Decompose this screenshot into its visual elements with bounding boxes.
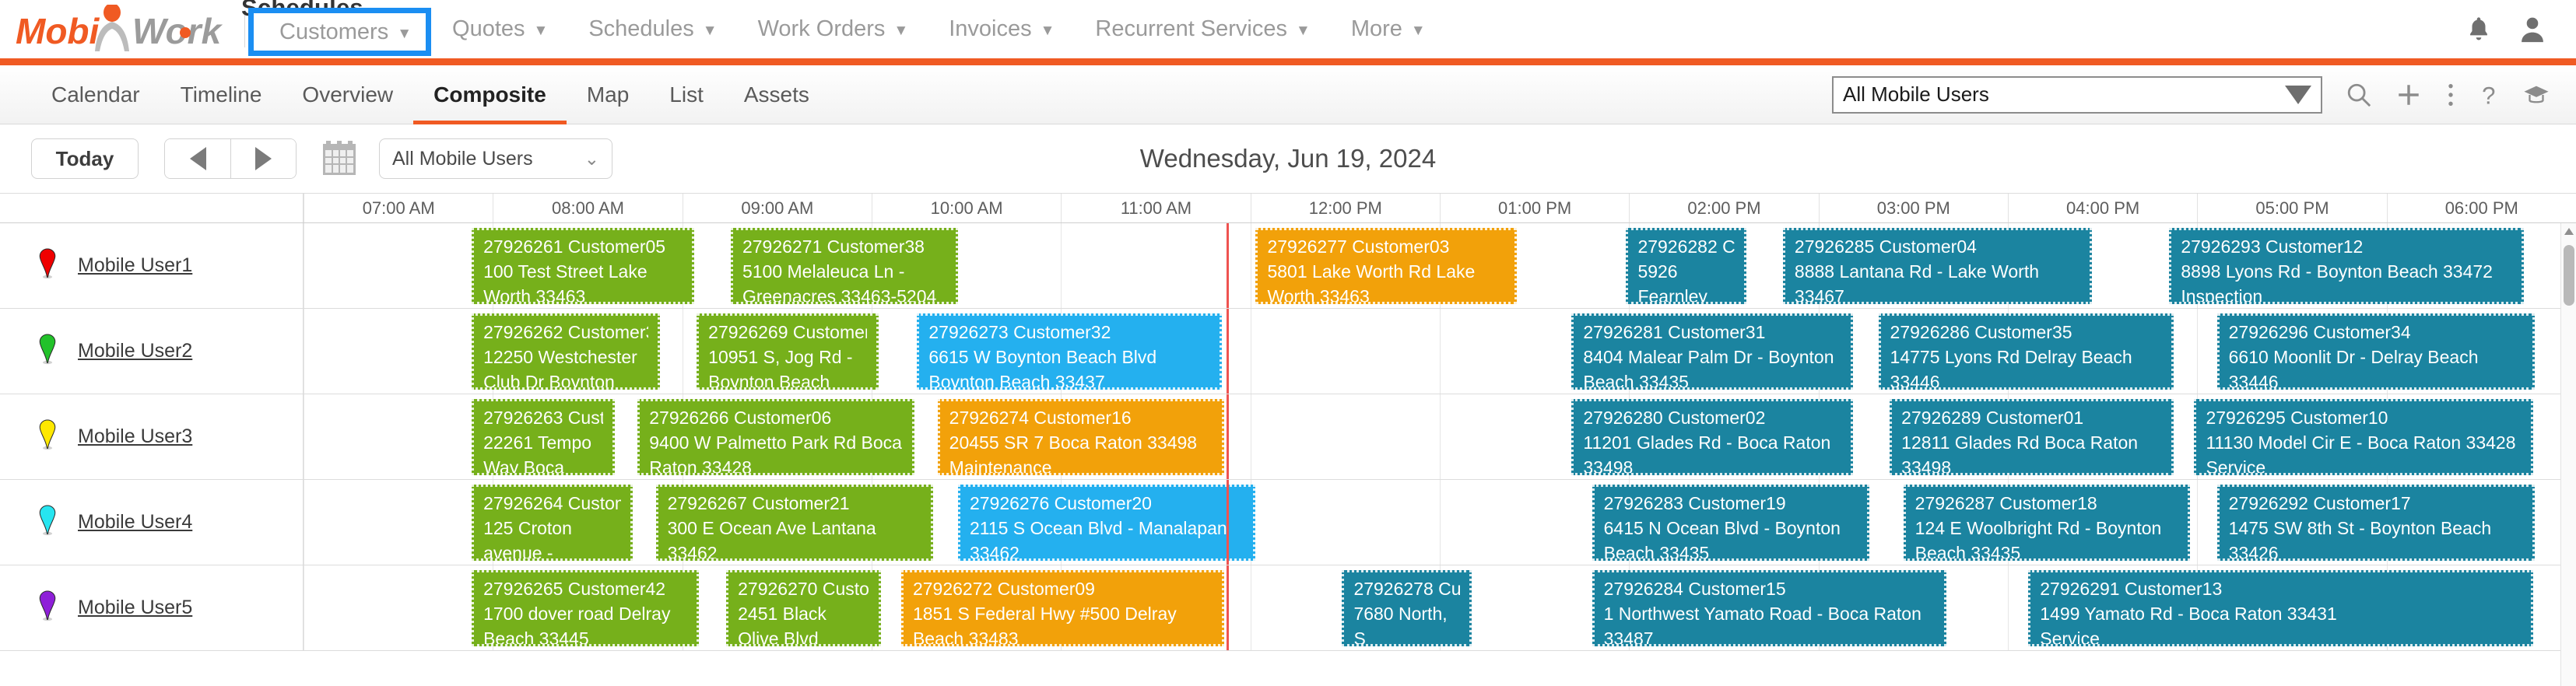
event-id-customer: 27926276 Customer20	[970, 491, 1244, 516]
schedule-event-card[interactable]: 27926273 Customer326615 W Boynton Beach …	[917, 313, 1221, 390]
mobile-user-link[interactable]: Mobile User5	[78, 597, 192, 619]
mobile-user-link[interactable]: Mobile User4	[78, 511, 192, 534]
event-id-customer: 27926295 Customer10	[2206, 405, 2521, 430]
date-nav-group	[164, 138, 297, 179]
mobile-user-select-value: All Mobile Users	[392, 148, 584, 170]
schedule-lane[interactable]: 27926265 Customer421700 dover road Delra…	[304, 565, 2576, 650]
schedule-row: Mobile User427926264 Customer41125 Croto…	[0, 480, 2576, 565]
event-type: Inspection	[2181, 284, 2512, 304]
event-address: 9400 W Palmetto Park Rd Boca Raton 33428	[649, 432, 902, 475]
event-address: 125 Croton avenue - Lantana 33462	[483, 518, 603, 561]
top-bar: Mobi Work Schedules Customers ▼ Quotes ▼…	[0, 0, 2576, 58]
grid-line	[1251, 565, 1251, 650]
schedule-event-card[interactable]: 27926269 Customer3910951 S, Jog Rd - Boy…	[697, 313, 879, 390]
map-pin-icon	[37, 334, 58, 369]
event-id-customer: 27926293 Customer12	[2181, 234, 2512, 259]
mobile-user-row-label: Mobile User5	[0, 565, 304, 650]
sub-navigation: Calendar Timeline Overview Composite Map…	[0, 65, 2576, 124]
event-id-customer: 27926262 Customer33	[483, 320, 648, 345]
chevron-down-icon: ▼	[1296, 23, 1311, 38]
schedule-event-card[interactable]: 27926266 Customer069400 W Palmetto Park …	[637, 399, 914, 475]
map-pin-icon	[37, 505, 58, 540]
event-id-customer: 27926271 Customer38	[742, 234, 946, 259]
grid-line	[2197, 309, 2198, 394]
calendar-icon[interactable]	[321, 139, 357, 178]
event-id-customer: 27926289 Customer01	[1901, 405, 2162, 430]
sub-nav-actions: All Mobile Users ?	[1832, 76, 2576, 114]
svg-text:Mobi: Mobi	[16, 11, 100, 51]
grid-line	[1251, 309, 1251, 394]
current-time-marker	[1227, 394, 1229, 479]
nav-item-customers[interactable]: Customers ▼	[259, 8, 432, 56]
event-type: Service	[2040, 626, 2521, 646]
nav-item-quotes[interactable]: Quotes ▼	[432, 0, 568, 58]
event-id-customer: 27926266 Customer06	[649, 405, 903, 430]
arrow-left-icon	[190, 147, 206, 170]
grid-line	[304, 309, 304, 394]
current-time-marker	[1227, 565, 1229, 650]
time-slot-header: 10:00 AM	[872, 194, 1061, 222]
schedule-row: Mobile User527926265 Customer421700 dove…	[0, 565, 2576, 651]
chevron-down-icon	[2285, 86, 2311, 104]
svg-text:?: ?	[2482, 82, 2495, 108]
event-type: Service	[2206, 455, 2521, 475]
event-address: 22261 Tempo Way Boca	[483, 432, 591, 475]
schedule-event-card[interactable]: 27926264 Customer41125 Croton avenue - L…	[472, 485, 633, 561]
chevron-down-icon: ▼	[1041, 23, 1055, 38]
event-address: 1851 S Federal Hwy #500 Delray Beach 334…	[913, 604, 1177, 646]
schedule-event-card[interactable]: 27926281 Customer318404 Malear Palm Dr -…	[1571, 313, 1853, 390]
event-id-customer: 27926277 Customer03	[1267, 234, 1505, 259]
event-address: 12811 Glades Rd Boca Raton 33498	[1901, 432, 2138, 475]
time-axis-header: 07:00 AM08:00 AM09:00 AM10:00 AM11:00 AM…	[0, 193, 2576, 223]
graduation-cap-icon[interactable]	[2523, 82, 2550, 108]
schedule-event-card[interactable]: 27926267 Customer21300 E Ocean Ave Lanta…	[656, 485, 933, 561]
event-id-customer: 27926269 Customer39	[708, 320, 867, 345]
vertical-scrollbar[interactable]	[2560, 223, 2576, 686]
event-id-customer: 27926292 Customer17	[2229, 491, 2524, 516]
schedule-lane[interactable]: 27926261 Customer05100 Test Street Lake …	[304, 223, 2576, 308]
kebab-menu-icon[interactable]	[2445, 82, 2456, 108]
nav-item-more-label: More	[1351, 16, 1402, 42]
schedule-lane[interactable]: 27926264 Customer41125 Croton avenue - L…	[304, 480, 2576, 565]
event-address: 1 Northwest Yamato Road - Boca Raton 334…	[1604, 604, 1921, 646]
map-pin-icon	[37, 590, 58, 621]
event-id-customer: 27926282 Customer11	[1637, 234, 1735, 259]
grid-line	[1440, 394, 1441, 479]
grid-line	[1251, 394, 1251, 479]
tab-list[interactable]: List	[649, 65, 724, 124]
schedule-event-card[interactable]: 27926291 Customer131499 Yamato Rd - Boca…	[2028, 570, 2532, 646]
event-id-customer: 27926274 Customer16	[949, 405, 1213, 430]
event-address: 12250 Westchester Club Dr Boynton	[483, 347, 637, 390]
time-slot-header: 03:00 PM	[1819, 194, 2008, 222]
time-slot-header: 05:00 PM	[2197, 194, 2386, 222]
top-bar-actions	[2465, 15, 2576, 44]
event-address: 5801 Lake Worth Rd Lake Worth 33463	[1267, 261, 1475, 304]
scroll-up-arrow-icon[interactable]	[2564, 228, 2574, 235]
tab-overview[interactable]: Overview	[282, 65, 413, 124]
event-address: 8888 Lantana Rd - Lake Worth 33467	[1795, 261, 2039, 304]
event-address: 5926 Fearnley Rd - Lake Worth	[1637, 261, 1715, 304]
event-id-customer: 27926287 Customer18	[1915, 491, 2178, 516]
map-pin-icon	[37, 505, 58, 536]
grid-line	[683, 309, 683, 394]
plus-icon[interactable]	[2395, 82, 2422, 108]
event-address: 14775 Lyons Rd Delray Beach 33446	[1890, 347, 2132, 390]
bell-icon[interactable]	[2465, 15, 2492, 44]
main-navigation: Customers ▼ Quotes ▼ Schedules ▼ Work Or…	[259, 0, 1446, 58]
mobile-user-row-label: Mobile User2	[0, 309, 304, 394]
date-toolbar: Today All Mobile Users ⌄ Wednesday, Jun …	[0, 124, 2576, 193]
schedule-event-card[interactable]: 27926265 Customer421700 dover road Delra…	[472, 570, 699, 646]
time-slot-header: 07:00 AM	[304, 194, 493, 222]
time-axis-cells: 07:00 AM08:00 AM09:00 AM10:00 AM11:00 AM…	[304, 194, 2576, 222]
grid-line	[304, 223, 304, 308]
svg-text:Work: Work	[132, 11, 223, 51]
mobiwork-logo-icon: Mobi Work	[16, 5, 226, 54]
next-day-button[interactable]	[230, 139, 296, 178]
chevron-down-icon: ▼	[1411, 23, 1426, 38]
event-address: 2451 Black Olive Blvd	[738, 604, 826, 646]
current-time-marker	[1227, 223, 1229, 308]
event-address: 300 E Ocean Ave Lantana 33462	[668, 518, 876, 561]
scrollbar-thumb[interactable]	[2564, 245, 2574, 306]
tab-timeline[interactable]: Timeline	[160, 65, 283, 124]
event-id-customer: 27926281 Customer31	[1583, 320, 1841, 345]
schedule-event-card[interactable]: 27926276 Customer202115 S Ocean Blvd - M…	[958, 485, 1256, 561]
nav-highlight-wrapper: Customers ▼	[259, 2, 432, 56]
time-slot-header: 12:00 PM	[1251, 194, 1440, 222]
nav-item-work-orders-label: Work Orders	[758, 16, 886, 42]
grid-line	[1440, 480, 1441, 565]
schedule-event-card[interactable]: 27926296 Customer346610 Moonlit Dr - Del…	[2217, 313, 2536, 390]
time-slot-header: 11:00 AM	[1061, 194, 1250, 222]
grid-line	[304, 565, 304, 650]
event-id-customer: 27926285 Customer04	[1795, 234, 2080, 259]
chevron-down-icon: ⌄	[584, 149, 599, 170]
mobile-user-row-label: Mobile User1	[0, 223, 304, 308]
mobile-user-link[interactable]: Mobile User1	[78, 254, 192, 277]
map-pin-icon	[37, 248, 58, 279]
mobile-user-row-label: Mobile User4	[0, 480, 304, 565]
event-id-customer: 27926286 Customer35	[1890, 320, 2163, 345]
event-address: 1475 SW 8th St - Boynton Beach 33426	[2229, 518, 2492, 561]
help-icon[interactable]: ?	[2479, 82, 2500, 108]
mobile-users-filter-value: All Mobile Users	[1843, 82, 2285, 107]
schedule-event-card[interactable]: 27926286 Customer3514775 Lyons Rd Delray…	[1879, 313, 2174, 390]
event-id-customer: 27926273 Customer32	[928, 320, 1209, 345]
search-icon[interactable]	[2346, 82, 2372, 108]
schedule-event-card[interactable]: 27926284 Customer151 Northwest Yamato Ro…	[1592, 570, 1947, 646]
event-id-customer: 27926265 Customer42	[483, 576, 687, 601]
nav-item-schedules-label: Schedules	[588, 16, 693, 42]
tab-calendar[interactable]: Calendar	[31, 65, 160, 124]
grid-line	[304, 394, 304, 479]
nav-item-schedules[interactable]: Schedules ▼	[568, 0, 737, 58]
nav-item-work-orders[interactable]: Work Orders ▼	[738, 0, 929, 58]
map-pin-icon	[37, 248, 58, 283]
event-address: 100 Test Street Lake Worth 33463	[483, 261, 648, 304]
grid-line	[1061, 223, 1062, 308]
arrow-right-icon	[255, 147, 272, 170]
tab-map[interactable]: Map	[567, 65, 649, 124]
schedule-event-card[interactable]: 27926282 Customer115926 Fearnley Rd - La…	[1626, 228, 1746, 304]
nav-item-recurrent-services[interactable]: Recurrent Services ▼	[1075, 0, 1330, 58]
map-pin-icon	[37, 419, 58, 454]
event-address: 5100 Melaleuca Ln - Greenacres 33463-520…	[742, 261, 936, 304]
schedule-event-card[interactable]: 27926292 Customer171475 SW 8th St - Boyn…	[2217, 485, 2536, 561]
current-time-marker	[1227, 480, 1229, 565]
time-slot-header: 08:00 AM	[493, 194, 682, 222]
chevron-down-icon: ▼	[397, 26, 412, 41]
tab-assets[interactable]: Assets	[724, 65, 830, 124]
schedule-row: Mobile User227926262 Customer3312250 Wes…	[0, 309, 2576, 394]
nav-item-recurrent-services-label: Recurrent Services	[1095, 16, 1287, 42]
mobile-user-link[interactable]: Mobile User3	[78, 425, 192, 448]
map-pin-icon	[37, 419, 58, 450]
event-address: 7680 North, S	[1353, 604, 1447, 646]
schedule-event-card[interactable]: 27926280 Customer0211201 Glades Rd - Boc…	[1571, 399, 1853, 475]
map-pin-icon	[37, 334, 58, 365]
schedule-event-card[interactable]: 27926263 Customer4022261 Tempo Way Boca	[472, 399, 615, 475]
schedule-lane[interactable]: 27926262 Customer3312250 Westchester Clu…	[304, 309, 2576, 394]
event-id-customer: 27926296 Customer34	[2229, 320, 2524, 345]
event-address: 6615 W Boynton Beach Blvd Boynton Beach …	[928, 347, 1156, 390]
nav-item-more[interactable]: More ▼	[1331, 0, 1446, 58]
chevron-down-icon: ▼	[893, 23, 908, 38]
chevron-down-icon: ▼	[534, 23, 549, 38]
event-address: 8404 Malear Palm Dr - Boynton Beach 3343…	[1583, 347, 1834, 390]
schedule-event-card[interactable]: 27926278 Customer077680 North, S	[1342, 570, 1471, 646]
schedule-event-card[interactable]: 27926289 Customer0112811 Glades Rd Boca …	[1890, 399, 2174, 475]
nav-item-customers-label: Customers	[279, 19, 388, 45]
mobile-user-row-label: Mobile User3	[0, 394, 304, 479]
schedule-event-card[interactable]: 27926272 Customer091851 S Federal Hwy #5…	[901, 570, 1224, 646]
time-axis-corner	[0, 194, 304, 222]
schedule-grid: 07:00 AM08:00 AM09:00 AM10:00 AM11:00 AM…	[0, 193, 2576, 686]
tab-composite[interactable]: Composite	[413, 65, 567, 124]
nav-item-invoices[interactable]: Invoices ▼	[928, 0, 1075, 58]
schedule-event-card[interactable]: 27926287 Customer18124 E Woolbright Rd -…	[1904, 485, 2190, 561]
mobile-user-select[interactable]: All Mobile Users ⌄	[379, 138, 612, 179]
current-time-marker	[1227, 309, 1229, 394]
event-id-customer: 27926272 Customer09	[913, 576, 1213, 601]
schedule-lane[interactable]: 27926263 Customer4022261 Tempo Way Boca2…	[304, 394, 2576, 479]
schedule-event-card[interactable]: 27926285 Customer048888 Lantana Rd - Lak…	[1783, 228, 2092, 304]
time-slot-header: 02:00 PM	[1629, 194, 1818, 222]
event-address: 10951 S, Jog Rd - Boynton Beach 33437	[708, 347, 852, 390]
event-id-customer: 27926263 Customer40	[483, 405, 603, 430]
schedule-row: Mobile User327926263 Customer4022261 Tem…	[0, 394, 2576, 480]
chevron-down-icon: ▼	[703, 23, 718, 38]
previous-day-button[interactable]	[165, 139, 230, 178]
event-id-customer: 27926284 Customer15	[1604, 576, 1936, 601]
event-address: 11130 Model Cir E - Boca Raton 33428	[2206, 432, 2515, 453]
event-address: 20455 SR 7 Boca Raton 33498	[949, 432, 1197, 453]
time-slot-header: 01:00 PM	[1440, 194, 1629, 222]
event-id-customer: 27926261 Customer05	[483, 234, 683, 259]
user-avatar-icon[interactable]	[2518, 15, 2546, 44]
schedule-event-card[interactable]: 27926295 Customer1011130 Model Cir E - B…	[2194, 399, 2532, 475]
time-slot-header: 06:00 PM	[2387, 194, 2576, 222]
time-slot-header: 09:00 AM	[683, 194, 872, 222]
app-logo[interactable]: Mobi Work	[16, 2, 241, 57]
event-id-customer: 27926291 Customer13	[2040, 576, 2521, 601]
schedule-event-card[interactable]: 27926262 Customer3312250 Westchester Clu…	[472, 313, 660, 390]
event-id-customer: 27926283 Customer19	[1604, 491, 1858, 516]
nav-item-invoices-label: Invoices	[949, 16, 1031, 42]
today-button[interactable]: Today	[31, 138, 139, 179]
map-pin-icon	[37, 590, 58, 625]
schedule-rows: Mobile User127926261 Customer05100 Test …	[0, 223, 2576, 651]
event-id-customer: 27926264 Customer41	[483, 491, 621, 516]
schedule-event-card[interactable]: 27926270 Customer082451 Black Olive Blvd	[726, 570, 881, 646]
time-slot-header: 04:00 PM	[2008, 194, 2197, 222]
schedule-row: Mobile User127926261 Customer05100 Test …	[0, 223, 2576, 309]
schedule-event-card[interactable]: 27926261 Customer05100 Test Street Lake …	[472, 228, 694, 304]
event-id-customer: 27926278 Customer07	[1353, 576, 1459, 601]
event-address: 1700 dover road Delray Beach 33445	[483, 604, 670, 646]
event-address: 6415 N Ocean Blvd - Boynton Beach 33435	[1604, 518, 1841, 561]
event-address: 2115 S Ocean Blvd - Manalapan 33462	[970, 518, 1227, 561]
event-id-customer: 27926280 Customer02	[1583, 405, 1841, 430]
event-address: 6610 Moonlit Dr - Delray Beach 33446	[2229, 347, 2479, 390]
grid-line	[2197, 480, 2198, 565]
event-address: 124 E Woolbright Rd - Boynton Beach 3343…	[1915, 518, 2162, 561]
mobile-user-link[interactable]: Mobile User2	[78, 340, 192, 362]
grid-line	[304, 480, 304, 565]
schedule-event-card[interactable]: 27926283 Customer196415 N Ocean Blvd - B…	[1592, 485, 1869, 561]
event-address: 11201 Glades Rd - Boca Raton 33498	[1583, 432, 1830, 475]
grid-line	[2008, 565, 2009, 650]
schedule-event-card[interactable]: 27926293 Customer128898 Lyons Rd - Boynt…	[2169, 228, 2524, 304]
event-address: 1499 Yamato Rd - Boca Raton 33431	[2040, 604, 2336, 624]
event-type: Maintenance	[949, 455, 1213, 475]
schedule-event-card[interactable]: 27926271 Customer385100 Melaleuca Ln - G…	[731, 228, 958, 304]
schedule-event-card[interactable]: 27926277 Customer035801 Lake Worth Rd La…	[1255, 228, 1517, 304]
event-id-customer: 27926267 Customer21	[668, 491, 921, 516]
event-address: 8898 Lyons Rd - Boynton Beach 33472	[2181, 261, 2493, 282]
nav-item-quotes-label: Quotes	[452, 16, 525, 42]
schedule-event-card[interactable]: 27926274 Customer1620455 SR 7 Boca Raton…	[938, 399, 1224, 475]
grid-line	[1251, 223, 1251, 308]
grid-line	[1440, 309, 1441, 394]
mobile-users-filter-select[interactable]: All Mobile Users	[1832, 76, 2322, 114]
event-id-customer: 27926270 Customer08	[738, 576, 869, 601]
